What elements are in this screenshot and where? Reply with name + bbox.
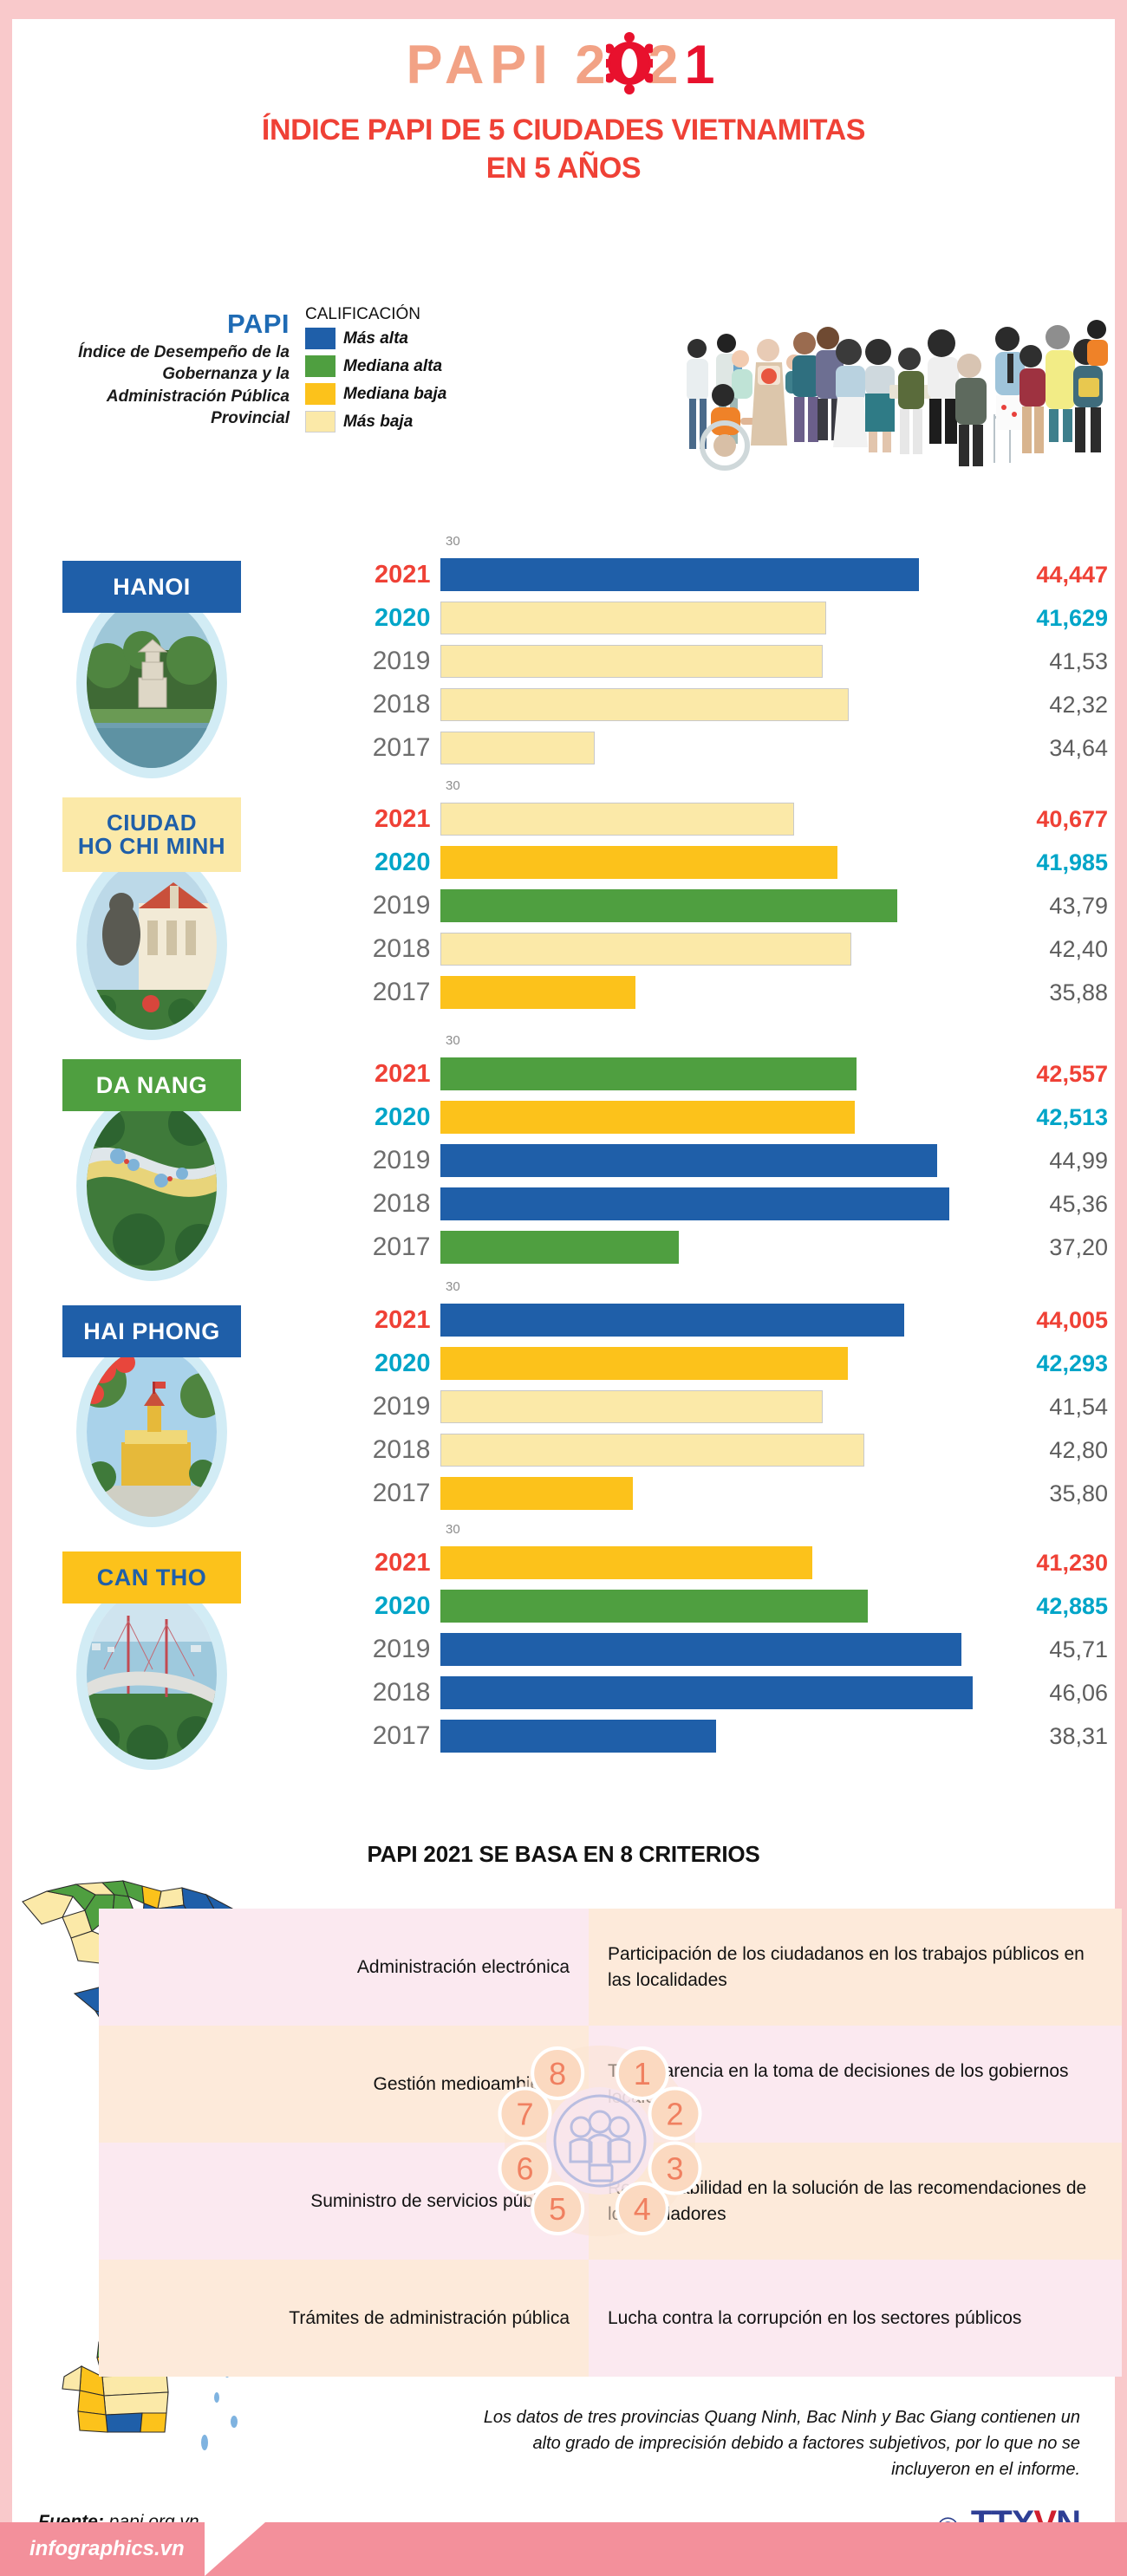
bar-track [440, 602, 983, 634]
legend-label-upper-mid: Mediana alta [343, 357, 442, 376]
legend-label-highest: Más alta [343, 329, 408, 348]
row-value-label: 44,005 [984, 1307, 1113, 1334]
logo-text-prefix: PAPI 2 [406, 35, 611, 95]
city-photo-da-nang-aerial-park [87, 1101, 217, 1271]
row-value-label: 46,06 [984, 1680, 1113, 1707]
row-value-label: 42,885 [984, 1593, 1113, 1620]
bar-rows: 202141,230202042,885201945,71201846,0620… [350, 1541, 1113, 1758]
bar-2020 [440, 1347, 848, 1380]
bar-track [440, 1676, 983, 1709]
row-value-label: 41,985 [984, 849, 1113, 876]
page-title-line1: ÍNDICE PAPI DE 5 CIUDADES VIETNAMITAS [12, 112, 1115, 150]
bar-track [440, 1590, 983, 1623]
row-year-label: 2020 [350, 604, 440, 633]
table-row: 202042,293 [350, 1342, 1113, 1385]
papi-acronym: PAPI [73, 309, 290, 340]
criteria-number-6: 6 [516, 2151, 533, 2187]
logo-text-mid: 2 [648, 35, 684, 95]
row-value-label: 45,36 [984, 1191, 1113, 1218]
city-name: HANOI [113, 575, 191, 599]
table-row: 201737,20 [350, 1226, 1113, 1269]
row-value-label: 35,80 [984, 1480, 1113, 1507]
bar-2020 [440, 602, 825, 634]
bar-2018 [440, 933, 851, 966]
header: PAPI 2021 ÍNDICE PAPI DE 5 CIUDADES VIET… [12, 19, 1115, 187]
row-year-label: 2020 [350, 1592, 440, 1621]
bar-track [440, 976, 983, 1009]
table-row: 202041,629 [350, 596, 1113, 640]
bar-track [440, 1187, 983, 1220]
row-value-label: 42,293 [984, 1350, 1113, 1377]
bar-track [440, 688, 983, 721]
row-year-label: 2018 [350, 690, 440, 719]
bar-2021 [440, 1057, 857, 1090]
bar-track [440, 1304, 983, 1337]
bar-track [440, 933, 983, 966]
row-value-label: 37,20 [984, 1234, 1113, 1261]
bar-track [440, 1101, 983, 1134]
bar-track [440, 1720, 983, 1753]
disclaimer-note: Los datos de tres provincias Quang Ninh,… [473, 2404, 1080, 2482]
bar-2018 [440, 1187, 949, 1220]
row-year-label: 2021 [350, 1060, 440, 1089]
row-year-label: 2017 [350, 978, 440, 1007]
bar-track [440, 732, 983, 764]
site-name: infographics.vn [0, 2537, 185, 2561]
bar-2017 [440, 1720, 715, 1753]
criteria-number-8: 8 [549, 2056, 566, 2091]
table-row: 201735,88 [350, 971, 1113, 1014]
row-value-label: 45,71 [984, 1636, 1113, 1663]
row-value-label: 41,629 [984, 605, 1113, 632]
city-name: DA NANG [96, 1073, 208, 1097]
bar-2021 [440, 558, 919, 591]
legend-title: CALIFICACIÓN [305, 305, 461, 324]
footer-bar-notch [205, 2522, 265, 2576]
footer-bar: infographics.vn [0, 2522, 1127, 2576]
legend-swatch-lowest [305, 411, 335, 433]
papi-expansion: Índice de Desempeño de la Gobernanza y l… [73, 342, 290, 430]
bar-track [440, 889, 983, 922]
papi-logo: PAPI 2021 [12, 38, 1115, 93]
row-year-label: 2019 [350, 1146, 440, 1175]
bar-2021 [440, 1546, 812, 1579]
axis-origin-label: 30 [446, 1522, 460, 1537]
city-photo-can-tho-bridge [87, 1590, 217, 1760]
row-value-label: 43,79 [984, 893, 1113, 920]
legend-item-upper-mid: Mediana alta [305, 355, 461, 377]
bar-2018 [440, 1434, 864, 1467]
bar-2020 [440, 1590, 867, 1623]
row-year-label: 2018 [350, 1189, 440, 1219]
bar-track [440, 1434, 983, 1467]
table-row: 202041,985 [350, 841, 1113, 884]
page-title-line2: EN 5 AÑOS [12, 150, 1115, 188]
row-value-label: 44,99 [984, 1148, 1113, 1174]
row-value-label: 34,64 [984, 735, 1113, 762]
bar-rows: 202140,677202041,985201943,79201842,4020… [350, 797, 1113, 1014]
bar-rows: 202144,447202041,629201941,53201842,3220… [350, 553, 1113, 770]
legend-item-lower-mid: Mediana baja [305, 383, 461, 405]
city-badge: HAI PHONG [62, 1305, 241, 1357]
table-row: 202042,513 [350, 1096, 1113, 1139]
bar-2017 [440, 732, 594, 764]
row-value-label: 41,53 [984, 648, 1113, 675]
table-row: 201734,64 [350, 726, 1113, 770]
row-year-label: 2021 [350, 561, 440, 589]
row-year-label: 2017 [350, 1233, 440, 1262]
criteria-number-5: 5 [549, 2191, 566, 2227]
axis-origin-label: 30 [446, 534, 460, 549]
table-row: 202042,885 [350, 1584, 1113, 1628]
infographic-page: PAPI 2021 ÍNDICE PAPI DE 5 CIUDADES VIET… [0, 0, 1127, 2576]
row-year-label: 2021 [350, 805, 440, 834]
logo-text-one: 1 [684, 35, 720, 95]
bar-track [440, 645, 983, 678]
legend-swatch-lower-mid [305, 383, 335, 405]
axis-origin-label: 30 [446, 1279, 460, 1294]
table-row: 201945,71 [350, 1628, 1113, 1671]
bar-2019 [440, 889, 897, 922]
page-title: ÍNDICE PAPI DE 5 CIUDADES VIETNAMITAS EN… [12, 112, 1115, 187]
table-row: 201845,36 [350, 1182, 1113, 1226]
criteria-number-2: 2 [666, 2097, 683, 2132]
bar-track [440, 1546, 983, 1579]
row-year-label: 2018 [350, 934, 440, 964]
legend-label-lowest: Más baja [343, 413, 413, 432]
row-value-label: 41,230 [984, 1550, 1113, 1577]
row-year-label: 2020 [350, 849, 440, 877]
row-year-label: 2018 [350, 1435, 440, 1465]
city-badge: CIUDADHO CHI MINH [62, 797, 241, 872]
row-year-label: 2017 [350, 1721, 440, 1751]
row-year-label: 2020 [350, 1350, 440, 1378]
bar-2020 [440, 846, 837, 879]
city-photo-hai-phong-opera-house-flamboyant [87, 1347, 217, 1517]
table-row: 202142,557 [350, 1052, 1113, 1096]
axis-origin-label: 30 [446, 778, 460, 793]
city-name: CAN THO [97, 1565, 207, 1590]
table-row: 201842,80 [350, 1428, 1113, 1472]
legend-item-highest: Más alta [305, 328, 461, 349]
row-year-label: 2017 [350, 733, 440, 763]
table-row: 201846,06 [350, 1671, 1113, 1714]
bar-2017 [440, 976, 635, 1009]
bar-track [440, 803, 983, 836]
row-value-label: 38,31 [984, 1723, 1113, 1750]
table-row: 202141,230 [350, 1541, 1113, 1584]
table-row: 201842,32 [350, 683, 1113, 726]
city-badge: DA NANG [62, 1059, 241, 1111]
row-year-label: 2017 [350, 1479, 440, 1508]
table-row: 201941,54 [350, 1385, 1113, 1428]
city-photo-ho-chi-minh-statue-city-hall [87, 860, 217, 1030]
row-year-label: 2019 [350, 1635, 440, 1664]
row-year-label: 2020 [350, 1103, 440, 1132]
bar-2017 [440, 1477, 633, 1510]
bar-track [440, 1347, 983, 1380]
people-illustration [680, 314, 1113, 513]
bar-track [440, 1231, 983, 1264]
bar-2021 [440, 1304, 904, 1337]
table-row: 201941,53 [350, 640, 1113, 683]
table-row: 201738,31 [350, 1714, 1113, 1758]
table-row: 202140,677 [350, 797, 1113, 841]
table-row: 201943,79 [350, 884, 1113, 927]
criteria-number-3: 3 [666, 2151, 683, 2187]
axis-origin-label: 30 [446, 1033, 460, 1048]
row-year-label: 2019 [350, 891, 440, 920]
bar-2019 [440, 1633, 961, 1666]
legend-label-lower-mid: Mediana baja [343, 385, 446, 404]
row-year-label: 2019 [350, 647, 440, 676]
row-value-label: 44,447 [984, 562, 1113, 589]
bar-track [440, 1144, 983, 1177]
gear-zero-icon: 0 [611, 38, 648, 93]
bar-2019 [440, 1144, 937, 1177]
infographic-sheet: PAPI 2021 ÍNDICE PAPI DE 5 CIUDADES VIET… [12, 19, 1115, 2522]
table-row: 202144,447 [350, 553, 1113, 596]
table-row: 202144,005 [350, 1298, 1113, 1342]
legend: CALIFICACIÓN Más alta Mediana alta Media… [305, 305, 461, 439]
bar-2018 [440, 1676, 973, 1709]
bar-track [440, 1633, 983, 1666]
bar-track [440, 1390, 983, 1423]
bar-2017 [440, 1231, 679, 1264]
bar-2019 [440, 645, 822, 678]
criteria-number-1: 1 [634, 2056, 651, 2091]
row-value-label: 35,88 [984, 979, 1113, 1006]
criteria-wheel: 12345678 [498, 1950, 702, 2332]
row-year-label: 2019 [350, 1392, 440, 1421]
criteria-number-7: 7 [516, 2097, 533, 2132]
table-row: 201842,40 [350, 927, 1113, 971]
legend-swatch-highest [305, 328, 335, 349]
row-value-label: 42,32 [984, 692, 1113, 719]
row-year-label: 2018 [350, 1678, 440, 1708]
row-year-label: 2021 [350, 1549, 440, 1577]
bar-2019 [440, 1390, 823, 1423]
bar-2020 [440, 1101, 855, 1134]
bar-track [440, 558, 983, 591]
row-value-label: 42,557 [984, 1061, 1113, 1088]
city-name: HAI PHONG [83, 1319, 220, 1343]
papi-definition: PAPI Índice de Desempeño de la Gobernanz… [73, 309, 290, 430]
city-badge: CAN THO [62, 1551, 241, 1603]
row-year-label: 2021 [350, 1306, 440, 1335]
bar-2021 [440, 803, 794, 836]
city-name: CIUDADHO CHI MINH [78, 811, 225, 859]
city-badge: HANOI [62, 561, 241, 613]
bar-rows: 202142,557202042,513201944,99201845,3620… [350, 1052, 1113, 1269]
row-value-label: 42,40 [984, 936, 1113, 963]
row-value-label: 41,54 [984, 1394, 1113, 1421]
row-value-label: 42,80 [984, 1437, 1113, 1464]
row-value-label: 42,513 [984, 1104, 1113, 1131]
table-row: 201944,99 [350, 1139, 1113, 1182]
criteria-number-4: 4 [634, 2191, 651, 2227]
bar-track [440, 1057, 983, 1090]
legend-item-lowest: Más baja [305, 411, 461, 433]
table-row: 201735,80 [350, 1472, 1113, 1515]
bar-track [440, 1477, 983, 1510]
row-value-label: 40,677 [984, 806, 1113, 833]
bar-track [440, 846, 983, 879]
city-photo-hoan-kiem-lake-turtle-tower [87, 598, 217, 768]
bar-rows: 202144,005202042,293201941,54201842,8020… [350, 1298, 1113, 1515]
bar-2018 [440, 688, 849, 721]
legend-swatch-upper-mid [305, 355, 335, 377]
